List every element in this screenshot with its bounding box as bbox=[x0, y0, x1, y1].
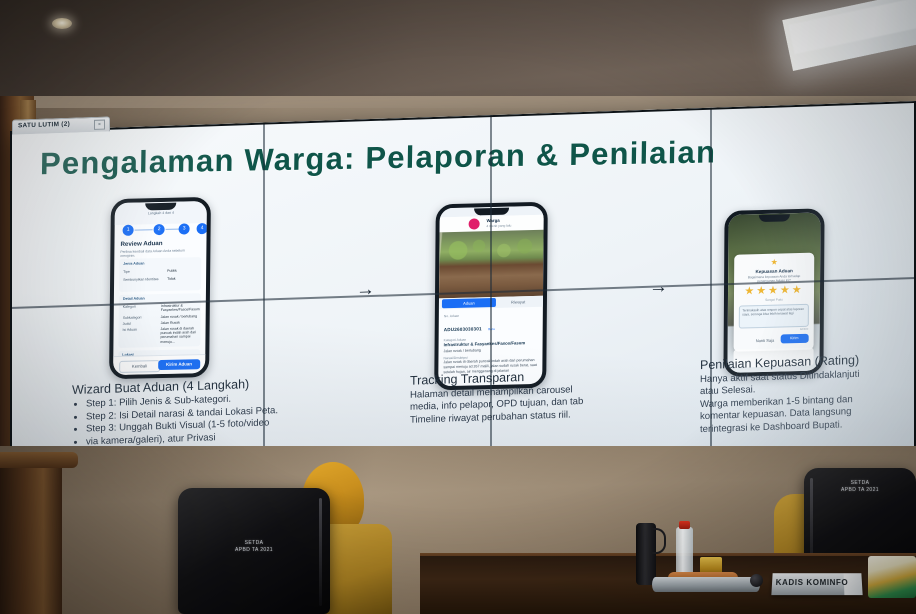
phone-mockup-review: Riwayat Langkah 4 dari 4 1 2 3 4 Review … bbox=[109, 197, 211, 379]
phone-volume-button bbox=[109, 247, 110, 263]
phone-notch bbox=[145, 203, 176, 211]
tab-riwayat[interactable]: Riwayat bbox=[496, 297, 540, 307]
send-rating-button[interactable]: Kirim bbox=[780, 334, 808, 344]
flow-arrow-1: → bbox=[356, 279, 375, 302]
chair-left: SETDA APBD TA 2021 bbox=[178, 488, 330, 614]
phone-volume-button bbox=[723, 257, 724, 271]
submit-aduan-button[interactable]: Kirim Aduan bbox=[158, 359, 200, 370]
desk-nameplate: KADIS KOMINFO bbox=[771, 573, 862, 595]
stepper-step-3[interactable]: 3 bbox=[179, 223, 190, 234]
star-rating-label: Sangat Puas bbox=[739, 297, 808, 303]
microphone-base bbox=[750, 574, 763, 587]
phone-volume-button bbox=[109, 267, 110, 283]
chair-label: SETDA APBD TA 2021 bbox=[178, 540, 330, 554]
review-heading: Review Aduan bbox=[120, 240, 162, 248]
field-value: Tidak bbox=[167, 277, 175, 281]
video-wall: Pengalaman Warga: Pelaporan & Penilaian … bbox=[10, 101, 916, 481]
stepper-step-2[interactable]: 2 bbox=[154, 224, 165, 235]
browser-tab-label: SATU LUTIM (2) bbox=[18, 121, 70, 130]
chair-label-line1: SETDA bbox=[178, 540, 330, 547]
page-title: Pengalaman Warga: Pelaporan & Penilaian bbox=[40, 133, 780, 182]
phone-volume-button bbox=[434, 256, 435, 272]
wizard-app-subtitle: Langkah 4 dari 4 bbox=[148, 211, 174, 216]
caption-column-3: Penilaian Kepuasan (Rating) Hanya aktif … bbox=[700, 351, 916, 436]
phone-notch bbox=[759, 214, 790, 222]
field-key: Isi Aduan bbox=[123, 328, 137, 332]
card-jenis-label: Jenis Aduan bbox=[123, 261, 144, 265]
field-value: Infrastruktur & Fasyankes/Fasos/Fasum bbox=[161, 303, 199, 312]
chair-label-line2: APBD TA 2021 bbox=[178, 547, 330, 554]
field-value: Jalan rusak di daerah puncak indah arah … bbox=[160, 326, 200, 344]
card-detail-label: Detail Aduan bbox=[123, 296, 145, 300]
stepper-step-4[interactable]: 4 bbox=[197, 223, 208, 234]
field-key: Subkategori bbox=[123, 315, 142, 319]
card-jenis-aduan: Jenis Aduan Tipe Publik Sembunyikan Iden… bbox=[119, 257, 201, 292]
stepper-connector bbox=[135, 229, 153, 230]
phone-volume-button bbox=[723, 275, 724, 289]
wizard-stepper[interactable]: 1 2 3 4 bbox=[121, 223, 201, 237]
screenshot-root: SATU LUTIM (2) × Pengalaman Warga: Pelap… bbox=[0, 0, 916, 614]
field-key: Judul bbox=[123, 322, 131, 326]
thermos-handle bbox=[652, 528, 666, 554]
chair-label-line1: SETDA bbox=[804, 480, 916, 487]
reporter-name: Warga bbox=[486, 218, 499, 223]
field-key: Sembunyikan Identitas bbox=[123, 277, 165, 282]
stepper-step-1[interactable]: 1 bbox=[123, 225, 134, 236]
close-icon[interactable]: × bbox=[94, 120, 105, 130]
later-button[interactable]: Nanti Saja bbox=[756, 336, 775, 345]
ceiling-spotlight bbox=[52, 18, 72, 29]
field-value: Jalan Rusak bbox=[161, 321, 180, 325]
tab-aduan[interactable]: Aduan bbox=[442, 298, 496, 308]
snack-bag bbox=[868, 556, 916, 598]
chair-label: SETDA APBD TA 2021 bbox=[804, 480, 916, 494]
bottle-cap bbox=[679, 521, 690, 529]
lectern bbox=[0, 452, 62, 614]
field-value: Jalan rusak / berlubang bbox=[161, 314, 197, 319]
nameplate-label: KADIS KOMINFO bbox=[772, 578, 852, 587]
wizard-footer: Kembali Kirim Aduan bbox=[113, 354, 205, 375]
chair-label-line2: APBD TA 2021 bbox=[804, 487, 916, 494]
comment-textarea[interactable]: Terimakasih atas respon cepat atas lapor… bbox=[739, 304, 808, 329]
lectern-top bbox=[0, 452, 78, 468]
serving-tray bbox=[652, 577, 760, 592]
field-key: Tipe bbox=[123, 270, 130, 274]
value-no-aduan: ADU2603030301 bbox=[444, 326, 482, 332]
star-icon: ★ bbox=[740, 257, 809, 267]
water-bottle bbox=[676, 527, 693, 577]
rating-modal: ★ Kepuasan Aduan Bagaimana kepuasan Anda… bbox=[734, 252, 814, 352]
back-button[interactable]: Kembali bbox=[119, 360, 160, 373]
field-value: Publik bbox=[167, 269, 177, 273]
field-key: Kategori bbox=[123, 305, 136, 309]
phone-volume-button bbox=[434, 276, 435, 292]
caption-column-2: Tracking Transparan Halaman detail menam… bbox=[410, 365, 670, 427]
rating-modal-actions: Nanti Saja Kirim bbox=[739, 334, 808, 346]
comment-counter: 84/300 bbox=[739, 328, 808, 333]
phone-mockup-rating: ★ Kepuasan Aduan Bagaimana kepuasan Anda… bbox=[723, 208, 824, 377]
star-rating-input[interactable]: ★★★★★ bbox=[739, 285, 808, 298]
